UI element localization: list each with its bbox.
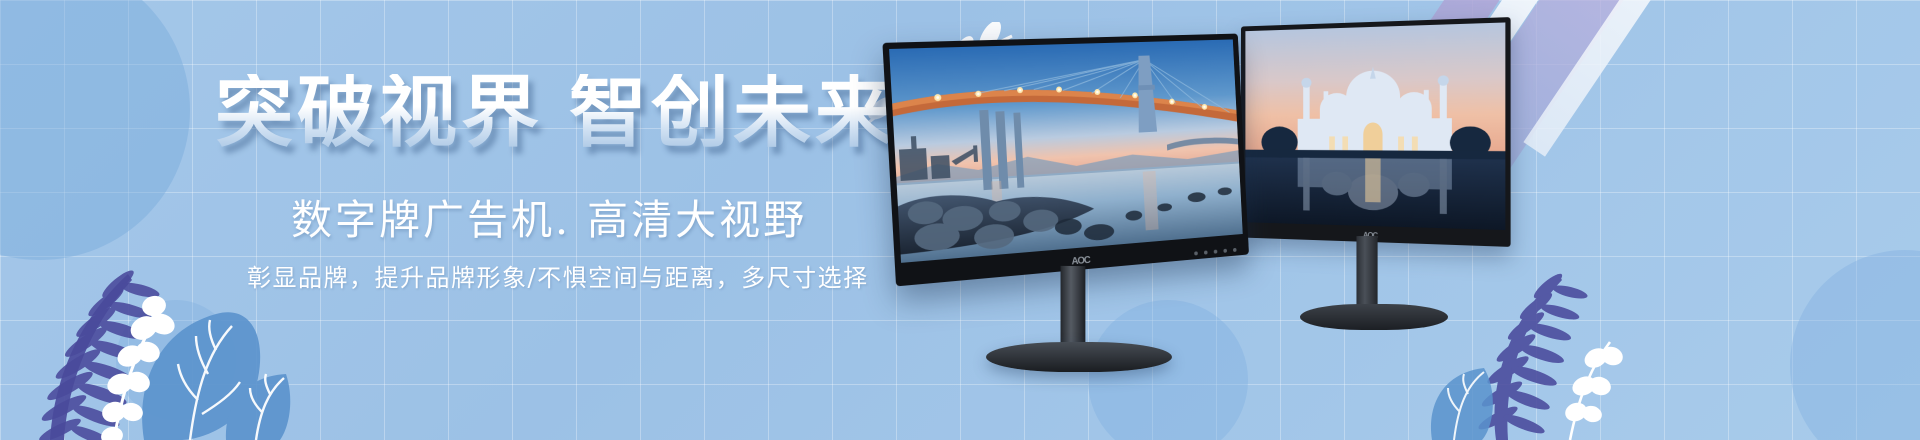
monitor-primary: AOC: [890, 38, 1290, 388]
headline-part-2: 智创未来: [569, 68, 897, 158]
monitor-button-3[interactable]: [1214, 250, 1218, 254]
monitor-power-button[interactable]: [1233, 248, 1237, 252]
monitor-button-1[interactable]: [1194, 251, 1198, 255]
monitor-secondary-stand-base: [1300, 304, 1448, 330]
subtitle: 数字牌广告机. 高清大视野: [291, 186, 807, 246]
monitor-button-4[interactable]: [1223, 249, 1227, 253]
headline-part-1: 突破视界: [215, 68, 543, 158]
product-images: AOC: [880, 0, 1920, 440]
page-title: 突破视界智创未来: [215, 74, 897, 152]
monitor-secondary-stand-neck: [1356, 236, 1377, 308]
monitor-primary-stand-base: [986, 342, 1172, 372]
monitor-primary-stand-neck: [1061, 266, 1086, 348]
monitor-button-2[interactable]: [1204, 250, 1208, 254]
promo-banner: 突破视界智创未来 数字牌广告机. 高清大视野 彰显品牌，提升品牌形象/不惧空间与…: [0, 0, 1920, 440]
tagline: 彰显品牌，提升品牌形象/不惧空间与距离，多尺寸选择: [247, 258, 869, 293]
text-block: 突破视界智创未来 数字牌广告机. 高清大视野 彰显品牌，提升品牌形象/不惧空间与…: [0, 0, 900, 440]
monitor-primary-bezel: AOC: [882, 34, 1249, 287]
monitor-primary-screen: [889, 39, 1243, 262]
